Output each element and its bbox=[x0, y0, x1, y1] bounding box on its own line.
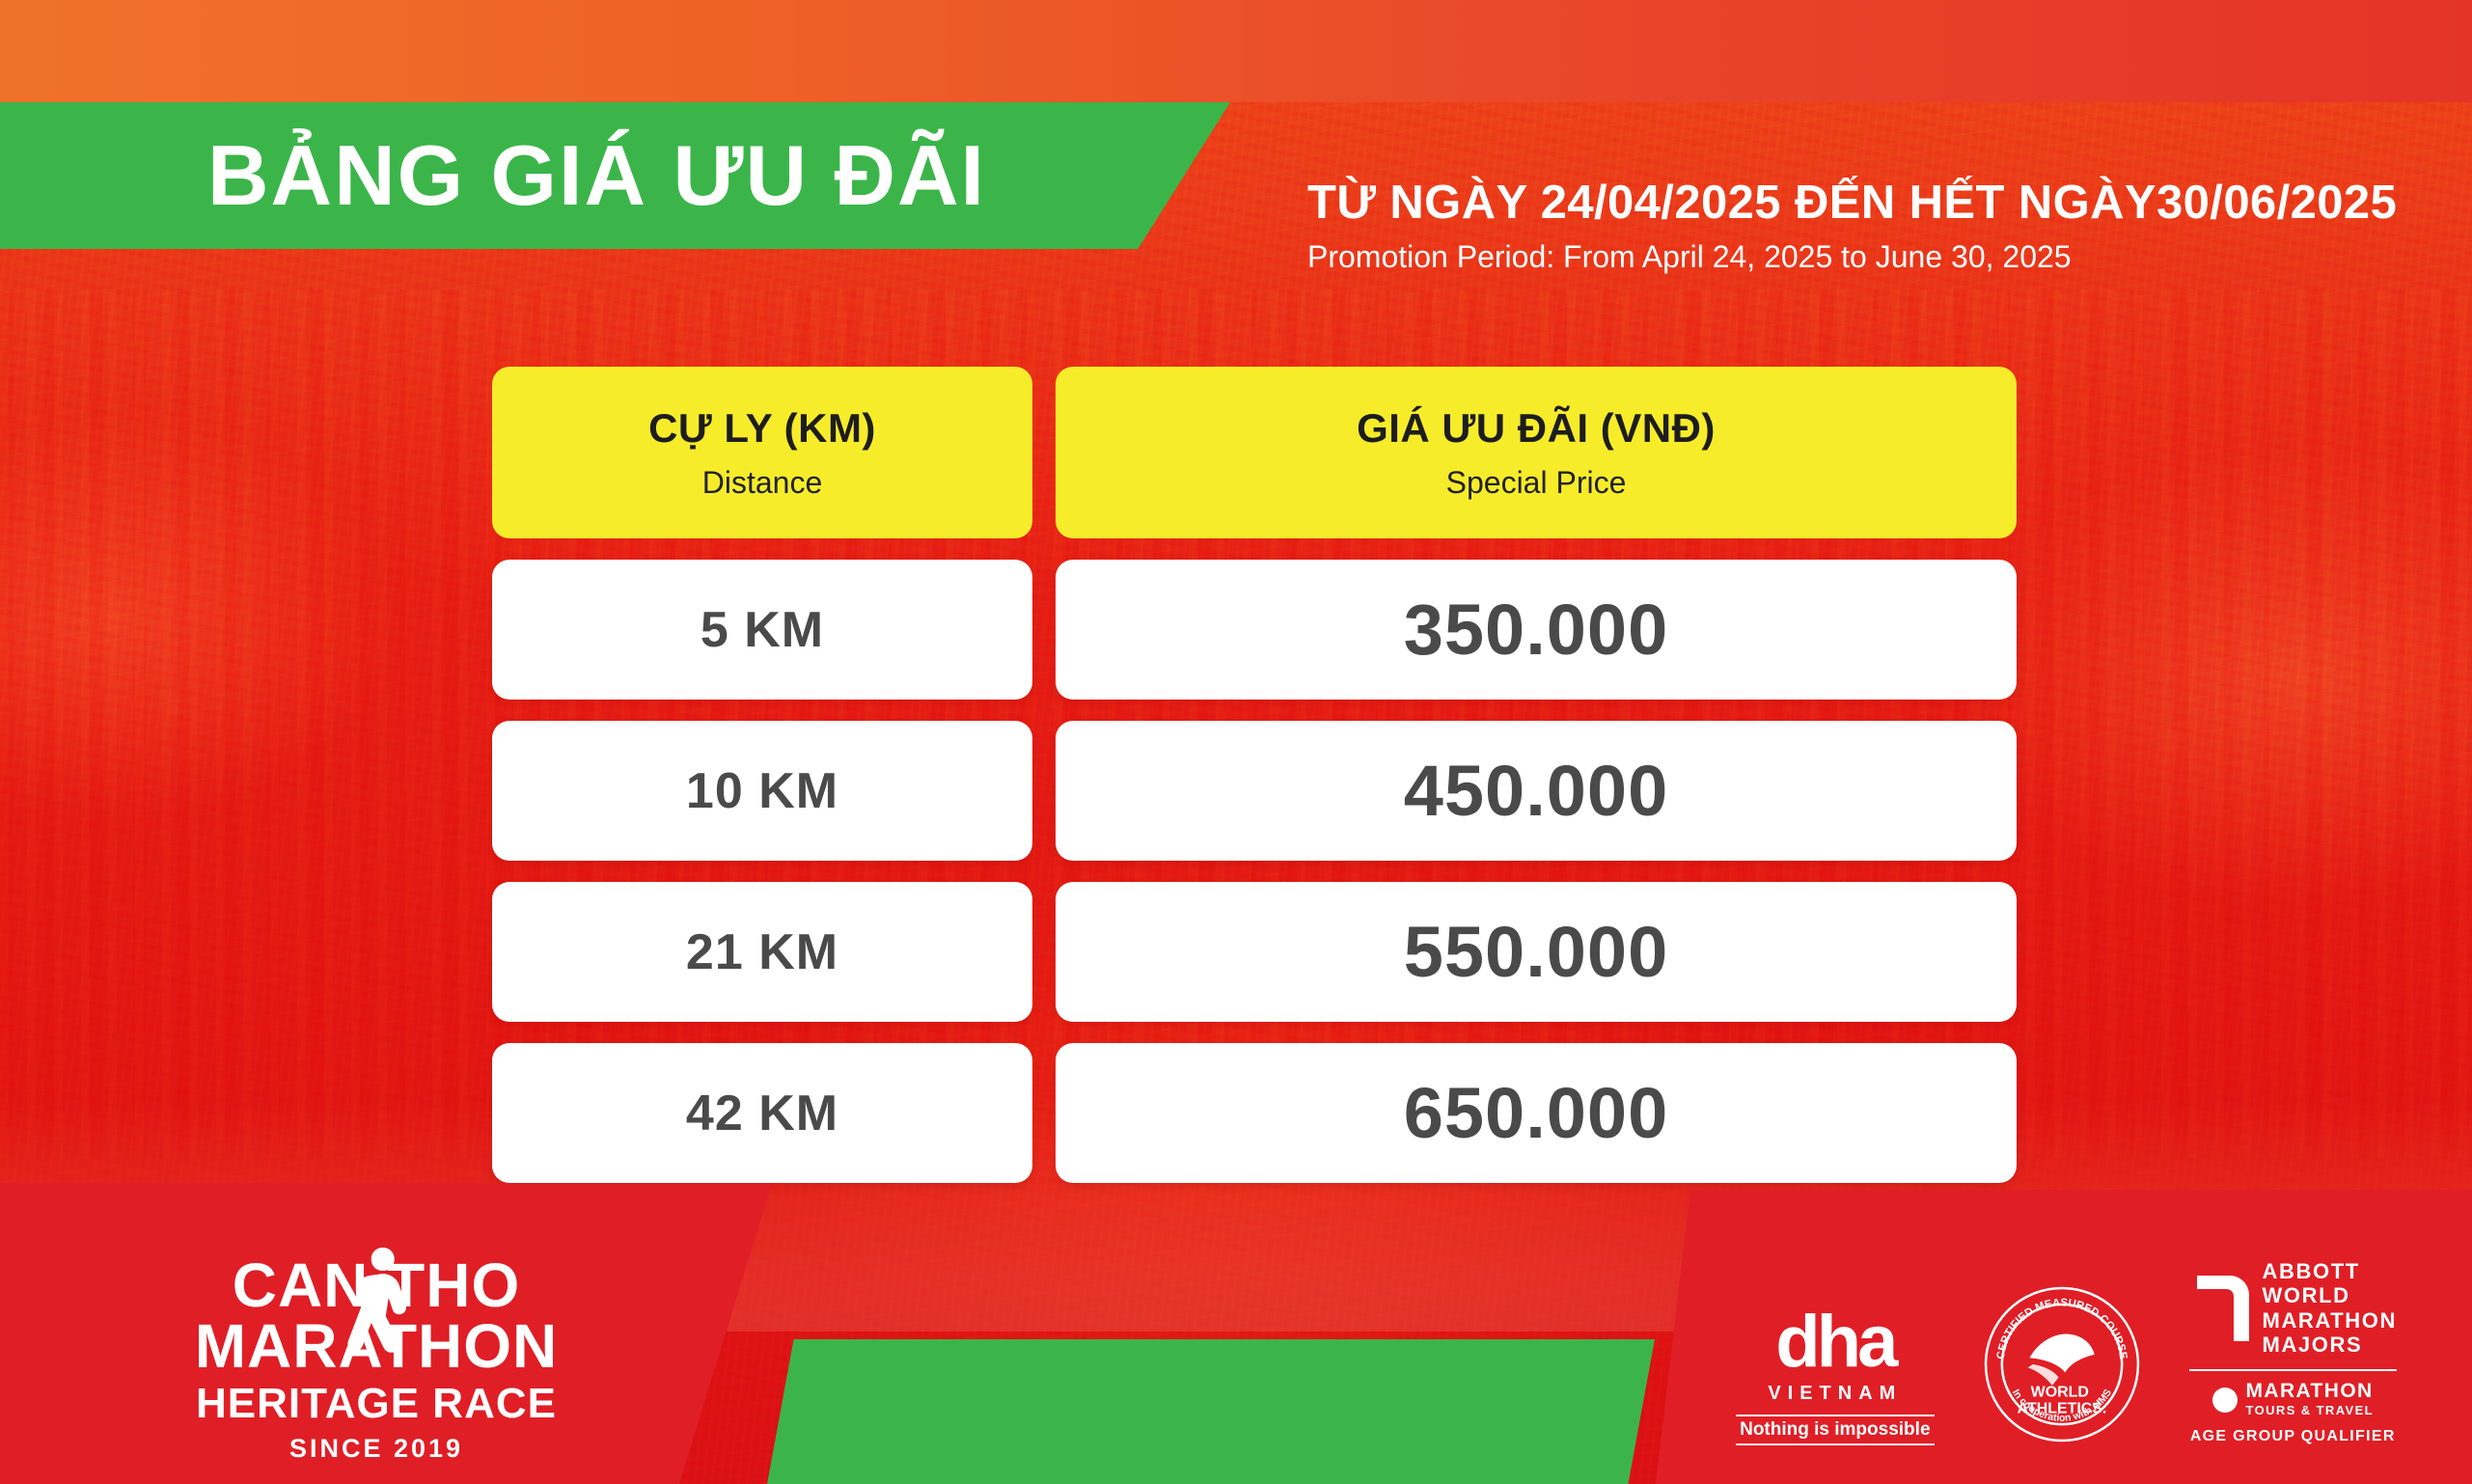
abbott-lockup: ABBOTT WORLD MARATHON MAJORS bbox=[2189, 1259, 2397, 1358]
price-table: CỰ LY (KM) Distance GIÁ ƯU ĐÃI (VNĐ) Spe… bbox=[492, 367, 2017, 1204]
cell-distance: 42 KM bbox=[492, 1043, 1032, 1183]
sponsor-abbott-wmm: ABBOTT WORLD MARATHON MAJORS MARATHON TO… bbox=[2189, 1259, 2397, 1445]
value-distance: 42 KM bbox=[686, 1085, 838, 1142]
dha-tagline: Nothing is impossible bbox=[1736, 1415, 1934, 1445]
table-row: 10 KM 450.000 bbox=[492, 721, 2017, 861]
abbott-a-icon bbox=[2189, 1276, 2249, 1341]
value-distance: 5 KM bbox=[700, 601, 824, 659]
sponsor-world-athletics: WORLD ATHLETICS. CERTIFIED MEASURED COUR… bbox=[1981, 1283, 2143, 1445]
header-cell-price: GIÁ ƯU ĐÃI (VNĐ) Special Price bbox=[1056, 367, 2017, 538]
header-cell-distance: CỰ LY (KM) Distance bbox=[492, 367, 1032, 538]
cell-price: 450.000 bbox=[1056, 721, 2017, 861]
cell-price: 550.000 bbox=[1056, 882, 2017, 1022]
promotion-date-vi: TỪ NGÀY 24/04/2025 ĐẾN HẾT NGÀY30/06/202… bbox=[1307, 179, 2398, 228]
value-price: 650.000 bbox=[1404, 1072, 1669, 1154]
abbott-words: ABBOTT WORLD MARATHON MAJORS bbox=[2263, 1259, 2397, 1358]
logo-line-3: HERITAGE RACE bbox=[183, 1385, 569, 1423]
cell-distance: 5 KM bbox=[492, 560, 1032, 700]
marathon-tours-icon bbox=[2212, 1388, 2238, 1413]
cell-price: 650.000 bbox=[1056, 1043, 2017, 1183]
header-distance-main: CỰ LY (KM) bbox=[648, 405, 876, 452]
logo-line-2: MARATHON bbox=[183, 1318, 569, 1375]
promo-poster: BẢNG GIÁ ƯU ĐÃI TỪ NGÀY 24/04/2025 ĐẾN H… bbox=[0, 0, 2472, 1484]
abbott-word-2: WORLD bbox=[2263, 1283, 2397, 1308]
marathon-tours-line2: TOURS & TRAVEL bbox=[2246, 1403, 2375, 1417]
value-price: 350.000 bbox=[1404, 589, 1669, 671]
title-banner: BẢNG GIÁ ƯU ĐÃI bbox=[0, 102, 1230, 249]
page-title: BẢNG GIÁ ƯU ĐÃI bbox=[207, 133, 986, 218]
cell-distance: 21 KM bbox=[492, 882, 1032, 1022]
header-price-main: GIÁ ƯU ĐÃI (VNĐ) bbox=[1357, 405, 1716, 452]
abbott-word-1: ABBOTT bbox=[2263, 1259, 2397, 1284]
promotion-date-en: Promotion Period: From April 24, 2025 to… bbox=[1307, 239, 2398, 275]
logo-line-4: SINCE 2019 bbox=[183, 1437, 569, 1461]
header-distance-sub: Distance bbox=[702, 465, 823, 501]
top-orange-strip bbox=[0, 0, 2472, 102]
table-row: 21 KM 550.000 bbox=[492, 882, 2017, 1022]
header-price-sub: Special Price bbox=[1446, 465, 1627, 501]
dha-wordmark: dha bbox=[1775, 1309, 1894, 1375]
table-header-row: CỰ LY (KM) Distance GIÁ ƯU ĐÃI (VNĐ) Spe… bbox=[492, 367, 2017, 538]
table-row: 42 KM 650.000 bbox=[492, 1043, 2017, 1183]
sponsor-logos: dha VIETNAM Nothing is impossible bbox=[1736, 1259, 2397, 1445]
marathon-tours-lockup: MARATHON TOURS & TRAVEL bbox=[2212, 1381, 2375, 1419]
cell-distance: 10 KM bbox=[492, 721, 1032, 861]
abbott-word-4: MAJORS bbox=[2263, 1333, 2397, 1358]
wa-center-line1: WORLD bbox=[2030, 1385, 2088, 1401]
age-group-qualifier: AGE GROUP QUALIFIER bbox=[2190, 1428, 2396, 1445]
sponsor-dha: dha VIETNAM Nothing is impossible bbox=[1736, 1309, 1934, 1445]
world-athletics-seal-icon: WORLD ATHLETICS. CERTIFIED MEASURED COUR… bbox=[1981, 1283, 2143, 1445]
abbott-word-3: MARATHON bbox=[2263, 1308, 2397, 1333]
event-logo: CAN THO MARATHON HERITAGE RACE SINCE 201… bbox=[183, 1257, 569, 1461]
value-distance: 10 KM bbox=[686, 762, 838, 820]
value-price: 450.000 bbox=[1404, 750, 1669, 832]
value-price: 550.000 bbox=[1404, 911, 1669, 993]
logo-line-1: CAN THO bbox=[183, 1257, 569, 1314]
value-distance: 21 KM bbox=[686, 923, 838, 981]
cell-price: 350.000 bbox=[1056, 560, 2017, 700]
abbott-divider bbox=[2189, 1369, 2397, 1371]
marathon-tours-line1: MARATHON bbox=[2246, 1380, 2374, 1402]
table-row: 5 KM 350.000 bbox=[492, 560, 2017, 700]
promotion-period-block: TỪ NGÀY 24/04/2025 ĐẾN HẾT NGÀY30/06/202… bbox=[1307, 179, 2398, 275]
dha-country: VIETNAM bbox=[1768, 1383, 1902, 1405]
footer-green-band bbox=[767, 1339, 1655, 1484]
